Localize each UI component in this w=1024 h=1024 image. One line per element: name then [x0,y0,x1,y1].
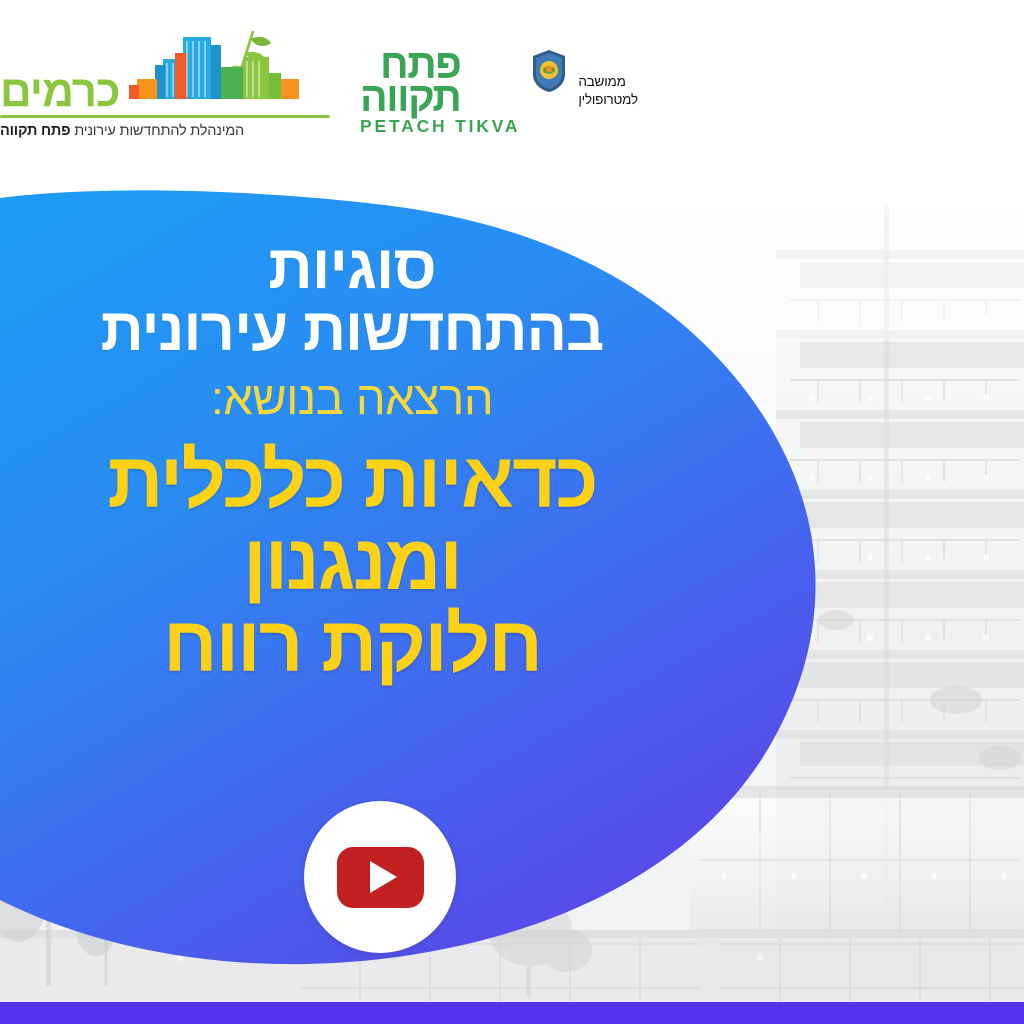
youtube-play-icon[interactable] [304,801,456,953]
karmim-wordmark: כרמים [0,73,119,112]
karmim-underline [0,115,330,118]
karmim-tagline-regular: המינהלת להתחדשות עירונית [70,123,244,139]
pt-hebrew-line2: תקווה [360,79,460,115]
pt-tagline-line1: ממושבה [578,73,625,90]
headline-subtitle: הרצאה בנושא: [0,369,704,426]
topic-line3: חלוקת רווח [0,605,704,683]
logo-row: כרמים [0,0,1024,170]
topic-line1: כדאיות כלכלית [0,441,704,519]
karmim-tagline: המינהלת להתחדשות עירונית פתח תקווה [0,123,244,139]
play-triangle-icon [370,861,397,893]
pt-tagline-line2: למטרופולין [578,91,638,108]
headline-block: סוגיות בהתחדשות עירונית הרצאה בנושא: כדא… [0,236,704,683]
youtube-play-button[interactable] [304,801,456,953]
petach-tikva-logo: פתחתקווה PETACH TIKVA ממושבה למטרופולין [360,28,638,137]
poster-canvas: כרמים [0,0,1024,1024]
pt-latin-name: PETACH TIKVA [360,116,520,137]
youtube-badge-body [337,847,424,908]
city-crest-shield-icon [529,48,569,94]
city-buildings-with-vine-icon [125,23,311,112]
bottom-accent-strip [0,1002,1024,1024]
headline-line2: בהתחדשות עירונית [0,299,704,360]
topic-line2: ומנגנון [0,523,704,601]
headline-line1: סוגיות [0,236,704,299]
karmim-logo: כרמים [0,28,334,139]
karmim-tagline-bold: פתח תקווה [0,123,70,139]
pt-tagline: ממושבה למטרופולין [578,73,638,110]
